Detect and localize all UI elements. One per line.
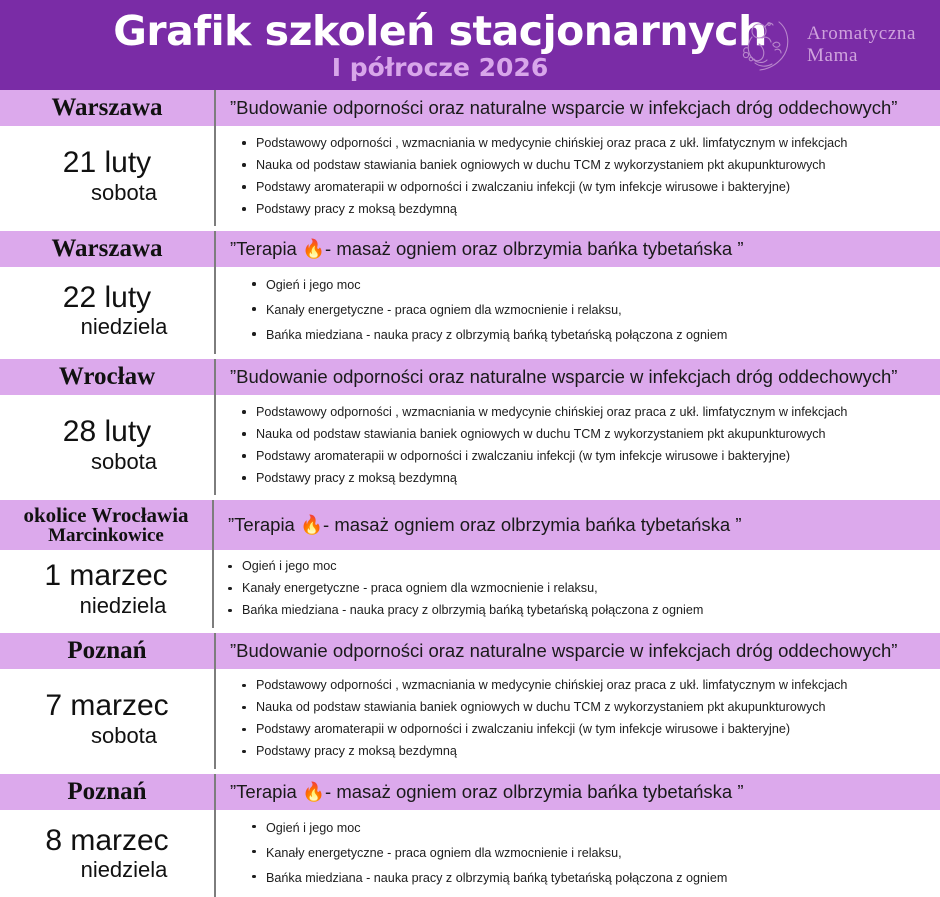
entry-bullet-item: Podstawy pracy z moksą bezdymną [242, 741, 928, 763]
schedule-entry: Poznań”Terapia 🔥- masaż ogniem oraz olbr… [0, 774, 940, 897]
fire-icon: 🔥 [300, 515, 323, 536]
entry-bullet-item: Bańka miedziana - nauka pracy z olbrzymi… [252, 866, 928, 891]
entry-body: 28 lutysobotaPodstawowy odporności , wzm… [0, 395, 940, 495]
entry-city: Warszawa [0, 91, 214, 125]
entry-date-block: 21 lutysobota [0, 143, 214, 209]
entry-city-cell: Wrocław [0, 359, 214, 395]
page-header-banner: Grafik szkoleń stacjonarnych I półrocze … [0, 0, 940, 90]
entry-bullet-item: Kanały energetyczne - praca ogniem dla w… [252, 298, 928, 323]
entry-bullet-item: Bańka miedziana - nauka pracy z olbrzymi… [252, 323, 928, 348]
entry-date-cell: 28 lutysobota [0, 395, 214, 495]
entry-city-secondary: Marcinkowice [6, 526, 206, 546]
entry-date-block: 28 lutysobota [0, 412, 214, 478]
entry-details-cell: Ogień i jego mocKanały energetyczne - pr… [214, 810, 940, 897]
entry-topic-cell: ”Budowanie odporności oraz naturalne wsp… [214, 633, 940, 669]
entry-header-band: Poznań”Budowanie odporności oraz natural… [0, 633, 940, 669]
entry-weekday: niedziela [10, 315, 204, 339]
entry-bullet-list: Podstawowy odporności , wzmacniania w me… [216, 669, 940, 769]
schedule-entry: Poznań”Budowanie odporności oraz natural… [0, 633, 940, 769]
entry-bullet-item: Kanały energetyczne - praca ogniem dla w… [228, 578, 928, 600]
entry-city-cell: okolice WrocławiaMarcinkowice [0, 500, 212, 550]
fire-icon: 🔥 [302, 239, 325, 260]
entry-city: okolice WrocławiaMarcinkowice [0, 500, 212, 550]
entry-city: Wrocław [0, 360, 214, 394]
schedule-entry: okolice WrocławiaMarcinkowice”Terapia 🔥-… [0, 500, 940, 628]
entry-header-band: Warszawa”Budowanie odporności oraz natur… [0, 90, 940, 126]
schedule-entry: Warszawa”Terapia 🔥- masaż ogniem oraz ol… [0, 231, 940, 354]
fire-icon: 🔥 [302, 782, 325, 803]
entry-date: 28 luty [10, 416, 204, 448]
entry-weekday: sobota [10, 181, 204, 205]
entry-details-cell: Ogień i jego mocKanały energetyczne - pr… [212, 550, 940, 628]
entry-bullet-item: Nauka od podstaw stawiania baniek ogniow… [242, 423, 928, 445]
entry-topic-cell: ”Budowanie odporności oraz naturalne wsp… [214, 359, 940, 395]
entry-bullet-item: Ogień i jego moc [228, 556, 928, 578]
entry-bullet-list: Podstawowy odporności , wzmacniania w me… [216, 395, 940, 495]
entry-details-cell: Ogień i jego mocKanały energetyczne - pr… [214, 267, 940, 354]
entry-topic-cell: ”Terapia 🔥- masaż ogniem oraz olbrzymia … [214, 774, 940, 810]
entry-date-cell: 22 lutyniedziela [0, 267, 214, 354]
entry-topic: ”Budowanie odporności oraz naturalne wsp… [216, 360, 940, 393]
entry-date-block: 8 marzecniedziela [0, 821, 214, 887]
entry-bullet-item: Bańka miedziana - nauka pracy z olbrzymi… [228, 600, 928, 622]
entry-city-cell: Poznań [0, 633, 214, 669]
entry-topic: ”Terapia 🔥- masaż ogniem oraz olbrzymia … [216, 775, 940, 809]
entry-bullet-list: Ogień i jego mocKanały energetyczne - pr… [216, 267, 940, 354]
entry-details-cell: Podstawowy odporności , wzmacniania w me… [214, 395, 940, 495]
entry-city: Poznań [0, 634, 214, 668]
header-titles: Grafik szkoleń stacjonarnych I półrocze … [113, 11, 767, 80]
entry-header-band: Warszawa”Terapia 🔥- masaż ogniem oraz ol… [0, 231, 940, 267]
entry-header-band: Wrocław”Budowanie odporności oraz natura… [0, 359, 940, 395]
entry-topic: ”Budowanie odporności oraz naturalne wsp… [216, 634, 940, 667]
entry-topic: ”Terapia 🔥- masaż ogniem oraz olbrzymia … [216, 232, 940, 266]
entry-details-cell: Podstawowy odporności , wzmacniania w me… [214, 669, 940, 769]
entry-date-block: 22 lutyniedziela [0, 278, 214, 344]
entry-bullet-item: Podstawy pracy z moksą bezdymną [242, 198, 928, 220]
entry-bullet-item: Podstawy aromaterapii w odporności i zwa… [242, 445, 928, 467]
entry-bullet-list: Ogień i jego mocKanały energetyczne - pr… [216, 810, 940, 897]
entry-body: 7 marzecsobotaPodstawowy odporności , wz… [0, 669, 940, 769]
entry-date: 8 marzec [10, 825, 204, 857]
entry-topic: ”Terapia 🔥- masaż ogniem oraz olbrzymia … [214, 508, 940, 542]
entry-date: 7 marzec [10, 690, 204, 722]
brand-name-line2: Mama [807, 45, 858, 66]
page-title: Grafik szkoleń stacjonarnych [113, 11, 767, 52]
entry-city: Warszawa [0, 232, 214, 266]
entry-city-cell: Warszawa [0, 90, 214, 126]
entry-topic-cell: ”Budowanie odporności oraz naturalne wsp… [214, 90, 940, 126]
entry-body: 8 marzecniedzielaOgień i jego mocKanały … [0, 810, 940, 897]
entry-date: 1 marzec [10, 560, 202, 592]
entry-bullet-item: Podstawowy odporności , wzmacniania w me… [242, 675, 928, 697]
entry-city-cell: Warszawa [0, 231, 214, 267]
page-subtitle: I półrocze 2026 [113, 55, 767, 80]
entry-date-block: 7 marzecsobota [0, 686, 214, 752]
entry-city: Poznań [0, 775, 214, 809]
entry-date-block: 1 marzecniedziela [0, 556, 212, 622]
schedule-list: Warszawa”Budowanie odporności oraz natur… [0, 90, 940, 897]
entry-bullet-item: Podstawy pracy z moksą bezdymną [242, 467, 928, 489]
entry-bullet-item: Podstawowy odporności , wzmacniania w me… [242, 132, 928, 154]
entry-bullet-item: Nauka od podstaw stawiania baniek ogniow… [242, 154, 928, 176]
entry-body: 21 lutysobotaPodstawowy odporności , wzm… [0, 126, 940, 226]
entry-bullet-item: Podstawowy odporności , wzmacniania w me… [242, 401, 928, 423]
entry-body: 1 marzecniedzielaOgień i jego mocKanały … [0, 550, 940, 628]
entry-date: 22 luty [10, 282, 204, 314]
entry-date-cell: 7 marzecsobota [0, 669, 214, 769]
entry-date: 21 luty [10, 147, 204, 179]
brand-logo: Aromatyczna Mama [735, 14, 916, 76]
schedule-entry: Warszawa”Budowanie odporności oraz natur… [0, 90, 940, 226]
entry-bullet-list: Podstawowy odporności , wzmacniania w me… [216, 126, 940, 226]
entry-topic-cell: ”Terapia 🔥- masaż ogniem oraz olbrzymia … [212, 500, 940, 550]
aromatyczna-mama-logo-icon [735, 14, 797, 76]
entry-bullet-item: Podstawy aromaterapii w odporności i zwa… [242, 176, 928, 198]
entry-date-cell: 21 lutysobota [0, 126, 214, 226]
entry-weekday: sobota [10, 724, 204, 748]
entry-city-cell: Poznań [0, 774, 214, 810]
entry-weekday: niedziela [10, 594, 202, 618]
entry-bullet-item: Nauka od podstaw stawiania baniek ogniow… [242, 697, 928, 719]
entry-body: 22 lutyniedzielaOgień i jego mocKanały e… [0, 267, 940, 354]
entry-date-cell: 8 marzecniedziela [0, 810, 214, 897]
entry-header-band: Poznań”Terapia 🔥- masaż ogniem oraz olbr… [0, 774, 940, 810]
brand-name: Aromatyczna Mama [807, 23, 916, 67]
entry-header-band: okolice WrocławiaMarcinkowice”Terapia 🔥-… [0, 500, 940, 550]
entry-date-cell: 1 marzecniedziela [0, 550, 212, 628]
entry-topic-cell: ”Terapia 🔥- masaż ogniem oraz olbrzymia … [214, 231, 940, 267]
entry-bullet-list: Ogień i jego mocKanały energetyczne - pr… [214, 550, 940, 628]
entry-bullet-item: Podstawy aromaterapii w odporności i zwa… [242, 719, 928, 741]
schedule-entry: Wrocław”Budowanie odporności oraz natura… [0, 359, 940, 495]
entry-bullet-item: Ogień i jego moc [252, 816, 928, 841]
entry-details-cell: Podstawowy odporności , wzmacniania w me… [214, 126, 940, 226]
entry-topic: ”Budowanie odporności oraz naturalne wsp… [216, 91, 940, 124]
entry-weekday: sobota [10, 450, 204, 474]
entry-bullet-item: Ogień i jego moc [252, 273, 928, 298]
brand-name-line1: Aromatyczna [807, 23, 916, 44]
entry-weekday: niedziela [10, 858, 204, 882]
entry-bullet-item: Kanały energetyczne - praca ogniem dla w… [252, 841, 928, 866]
